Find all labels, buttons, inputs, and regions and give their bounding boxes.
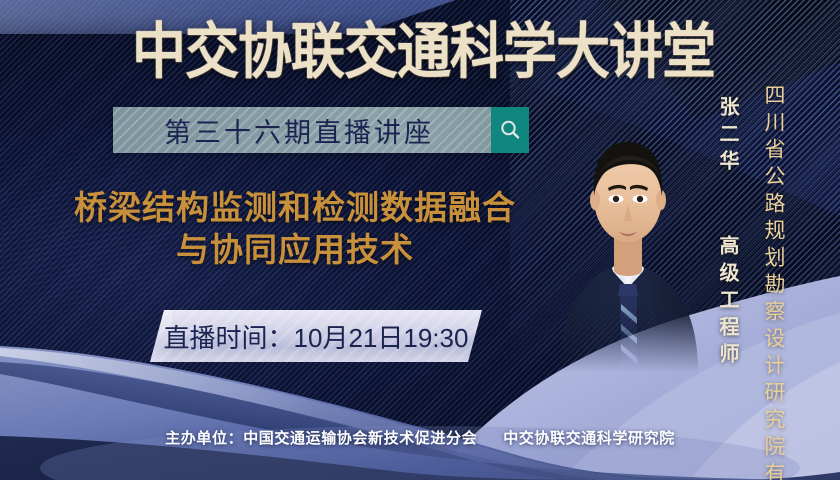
schedule-text: 直播时间：10月21日19:30: [150, 310, 482, 362]
speaker-portrait: [548, 72, 708, 372]
session-bar[interactable]: 第三十六期直播讲座: [113, 107, 529, 153]
speaker-name-and-title: 张二华 高级工程师: [713, 96, 742, 326]
webinar-poster: 中交协联交通科学大讲堂 第三十六期直播讲座 桥梁结构监测和检测数据融合 与协同应…: [0, 0, 840, 480]
schedule-banner: 直播时间：10月21日19:30: [150, 310, 482, 362]
footer-prefix: 主办单位：: [165, 430, 243, 447]
session-label: 第三十六期直播讲座: [113, 107, 491, 153]
lecture-topic-line-2: 与协同应用技术: [40, 229, 550, 271]
lecture-topic: 桥梁结构监测和检测数据融合 与协同应用技术: [40, 187, 550, 271]
footer-organizer-2: 中交协联交通科学研究院: [503, 430, 675, 447]
page-title: 中交协联交通科学大讲堂: [132, 18, 692, 85]
search-icon-container[interactable]: [491, 107, 529, 153]
footer-organizers: 主办单位：中国交通运输协会新技术促进分会中交协联交通科学研究院: [0, 427, 840, 448]
search-icon: [498, 118, 522, 142]
speaker-organization: 四川省公路规划勘察设计研究院有限公司: [758, 84, 788, 474]
lecture-topic-line-1: 桥梁结构监测和检测数据融合: [74, 189, 516, 226]
footer-organizer-1: 中国交通运输协会新技术促进分会: [243, 430, 477, 447]
